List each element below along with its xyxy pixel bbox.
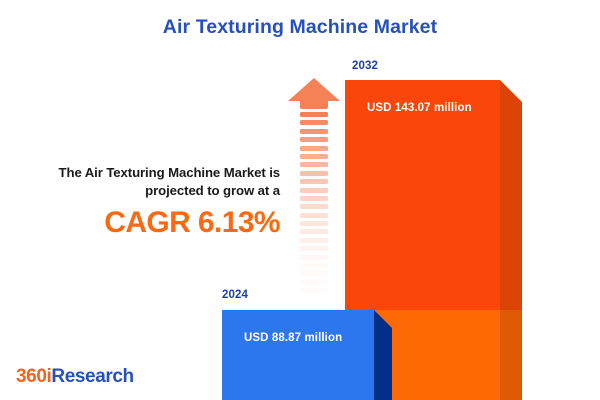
market-infographic: Air Texturing Machine Market The Air Tex…: [0, 0, 600, 400]
bar-value-label-2024: USD 88.87 million: [244, 332, 342, 344]
brand-logo: 360iResearch: [16, 366, 134, 388]
logo-mark: 360i: [16, 366, 51, 387]
bar-value-label-2032: USD 143.07 million: [367, 102, 472, 114]
bar-2024: USD 88.87 million: [222, 310, 374, 400]
bar-year-label-2024: 2024: [222, 289, 248, 301]
bar-2032-side-lower: [500, 310, 522, 400]
bar-2024-front: [222, 310, 374, 400]
bar-2032-front-upper: [345, 80, 500, 310]
bar-2032-side-upper: [500, 80, 522, 310]
logo-word: Research: [51, 366, 133, 387]
bar-chart: 2032 USD 143.07 million 2024 USD 88.87 m…: [0, 0, 600, 400]
bar-year-label-2032: 2032: [352, 60, 378, 72]
